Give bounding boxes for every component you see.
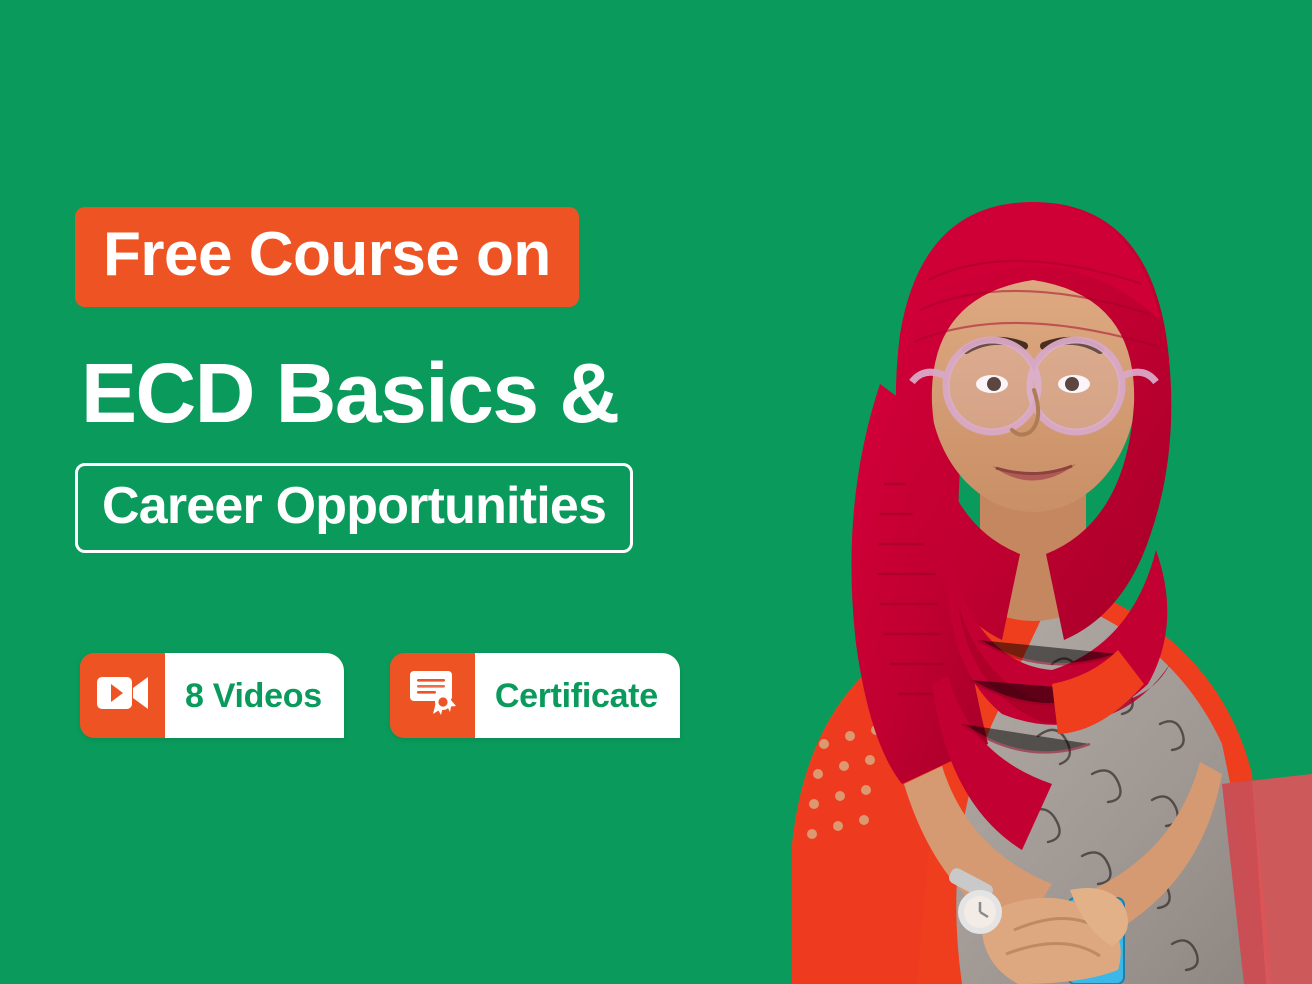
subtitle-outline-box: Career Opportunities [75,463,633,553]
badge-certificate: Certificate [390,653,680,738]
video-camera-icon [97,674,149,717]
badge-videos-label: 8 Videos [185,679,322,713]
page-title: ECD Basics & [75,351,695,435]
badge-label-container: Certificate [475,653,680,738]
subtitle-text: Career Opportunities [102,480,606,532]
badge-row: 8 Videos [80,653,680,738]
promo-banner: Free Course on ECD Basics & Career Oppor… [0,0,1312,984]
eyebrow-badge: Free Course on [75,207,579,307]
badge-videos: 8 Videos [80,653,344,738]
headline-block: Free Course on ECD Basics & Career Oppor… [75,207,695,553]
badge-label-container: 8 Videos [165,653,344,738]
badge-icon-container [390,653,475,738]
instructor-photo [752,84,1312,984]
badge-certificate-label: Certificate [495,679,658,713]
badge-icon-container [80,653,165,738]
certificate-icon [406,669,458,722]
eyebrow-text: Free Course on [103,224,551,286]
